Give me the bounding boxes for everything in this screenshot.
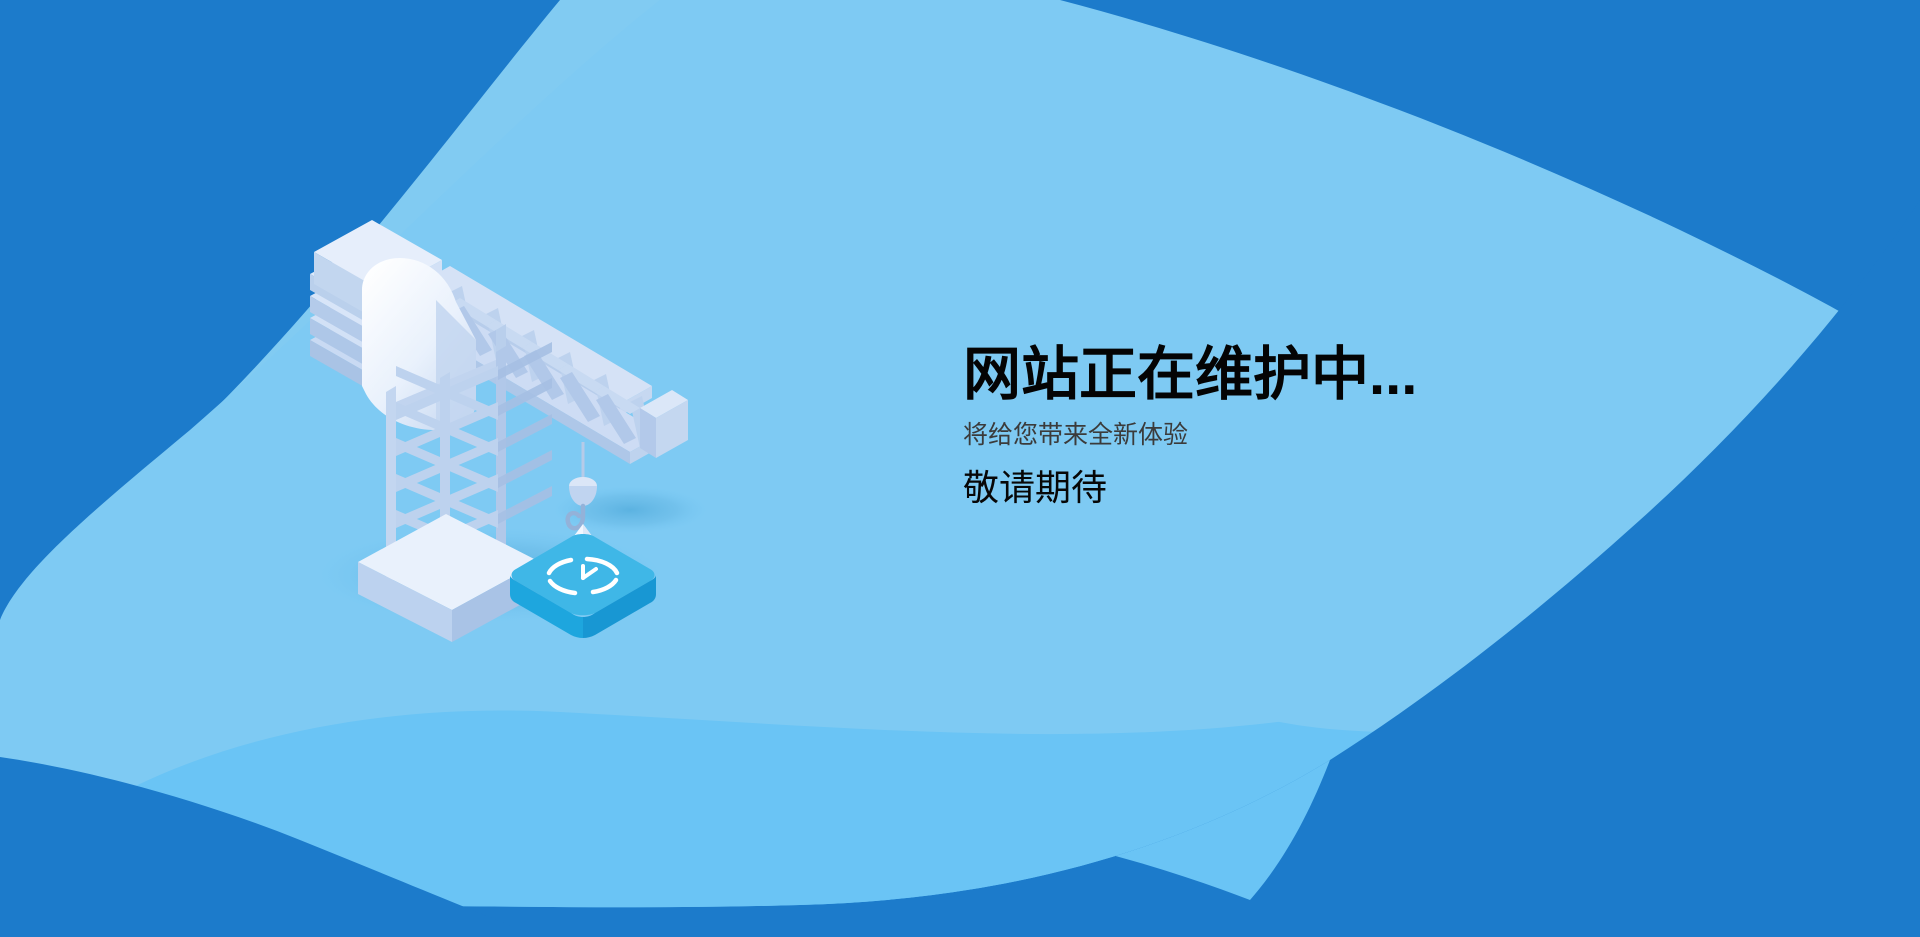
page-title: 网站正在维护中... [963,345,1723,406]
page-note: 敬请期待 [963,466,1723,509]
crane-illustration [300,180,860,650]
page-subtitle: 将给您带来全新体验 [963,420,1723,450]
maintenance-text-block: 网站正在维护中... 将给您带来全新体验 敬请期待 [963,345,1723,509]
maintenance-page: 网站正在维护中... 将给您带来全新体验 敬请期待 [0,0,1920,937]
